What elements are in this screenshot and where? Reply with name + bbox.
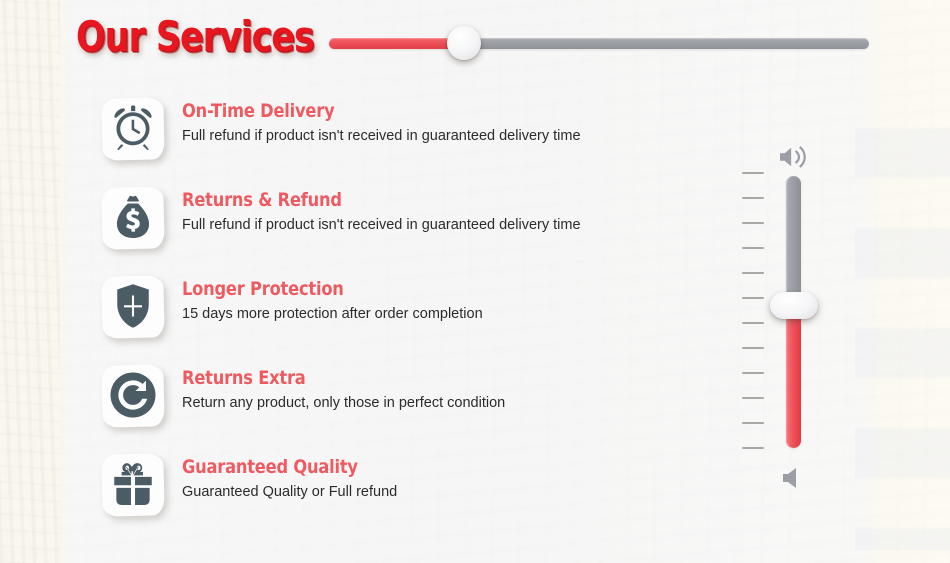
service-title: Returns Extra: [182, 367, 489, 389]
tick-mark: [742, 397, 764, 399]
tick-mark: [742, 197, 764, 199]
slider-thumb[interactable]: [447, 26, 481, 60]
service-copy: On-Time Delivery Full refund if product …: [168, 92, 581, 146]
service-description: 15 days more protection after order comp…: [182, 304, 483, 324]
service-icon-badge: [96, 272, 168, 342]
tick-mark: [742, 222, 764, 224]
service-icon-badge: [96, 183, 168, 253]
horizontal-progress-slider[interactable]: [329, 35, 869, 51]
speaker-volume-high-icon[interactable]: [778, 144, 808, 170]
header: Our Services: [0, 0, 950, 86]
service-item[interactable]: Longer Protection 15 days more protectio…: [96, 270, 756, 359]
service-item[interactable]: Guaranteed Quality Guaranteed Quality or…: [96, 448, 756, 537]
shield-plus-icon: [109, 282, 157, 330]
right-watermark-strip: [855, 80, 950, 550]
service-description: Guaranteed Quality or Full refund: [182, 482, 397, 502]
service-title: Longer Protection: [182, 278, 468, 300]
service-item[interactable]: On-Time Delivery Full refund if product …: [96, 92, 756, 181]
tick-mark: [742, 372, 764, 374]
page-title: Our Services: [76, 12, 314, 61]
volume-fill: [786, 308, 801, 448]
alarm-clock-icon: [109, 104, 157, 152]
service-copy: Guaranteed Quality Guaranteed Quality or…: [168, 448, 397, 502]
tick-mark: [742, 297, 764, 299]
volume-tick-marks: [742, 172, 772, 462]
tick-mark: [742, 172, 764, 174]
service-icon-badge: [96, 94, 168, 164]
service-title: Guaranteed Quality: [182, 456, 386, 478]
service-copy: Returns & Refund Full refund if product …: [168, 181, 581, 235]
services-panel: Our Services On-Time Delivery: [0, 0, 950, 563]
tick-mark: [742, 447, 764, 449]
tick-mark: [742, 347, 764, 349]
service-title: On-Time Delivery: [182, 100, 561, 122]
services-list: On-Time Delivery Full refund if product …: [96, 92, 756, 537]
service-item[interactable]: Returns & Refund Full refund if product …: [96, 181, 756, 270]
volume-thumb[interactable]: [770, 292, 818, 319]
service-icon-badge: [96, 450, 168, 520]
return-arrow-icon: [109, 371, 157, 419]
service-item[interactable]: Returns Extra Return any product, only t…: [96, 359, 756, 448]
money-bag-icon: [109, 193, 157, 241]
service-copy: Returns Extra Return any product, only t…: [168, 359, 505, 413]
vertical-volume-slider[interactable]: [742, 140, 822, 500]
slider-fill: [329, 38, 465, 49]
service-copy: Longer Protection 15 days more protectio…: [168, 270, 483, 324]
gift-box-icon: [109, 460, 157, 508]
service-description: Return any product, only those in perfec…: [182, 393, 505, 413]
service-icon-badge: [96, 361, 168, 431]
tick-mark: [742, 422, 764, 424]
tick-mark: [742, 322, 764, 324]
tick-mark: [742, 247, 764, 249]
service-description: Full refund if product isn't received in…: [182, 215, 581, 235]
service-title: Returns & Refund: [182, 189, 561, 211]
speaker-volume-low-icon[interactable]: [781, 466, 805, 490]
service-description: Full refund if product isn't received in…: [182, 126, 581, 146]
tick-mark: [742, 272, 764, 274]
